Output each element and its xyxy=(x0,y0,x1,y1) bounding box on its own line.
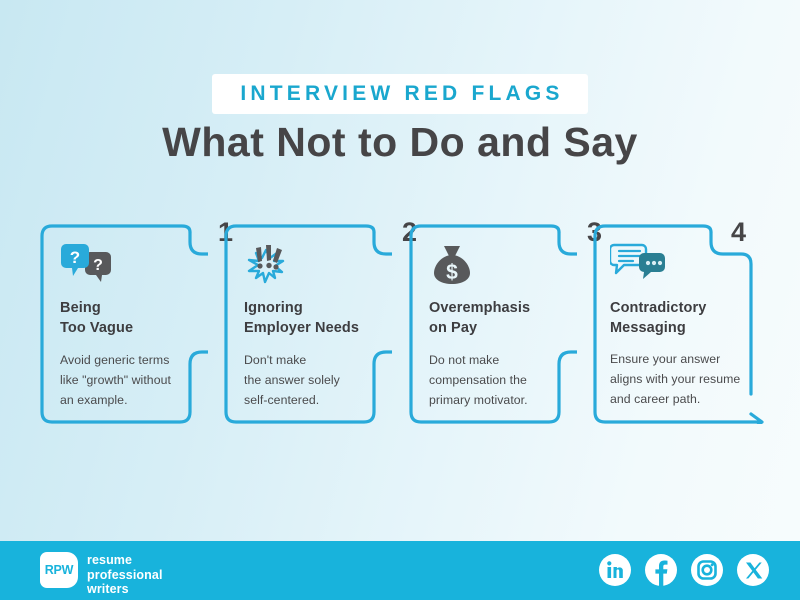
eyebrow-label: INTERVIEW RED FLAGS xyxy=(212,74,587,114)
social-links xyxy=(598,553,770,587)
step-card-1[interactable]: 1 ? ? Being Too Vague Avoid generic term… xyxy=(40,224,208,424)
chat-bubbles-icon xyxy=(610,242,759,290)
step-desc-1: Avoid generic terms like "growth" withou… xyxy=(60,351,194,411)
instagram-icon[interactable] xyxy=(690,553,724,587)
logo-wordmark: resume professional writers xyxy=(87,552,163,597)
step-title-4-line2: Messaging xyxy=(610,318,759,338)
step-title-1-line1: Being xyxy=(60,298,194,318)
step-title-4-line1: Contradictory xyxy=(610,298,759,318)
svg-text:?: ? xyxy=(70,248,80,267)
linkedin-icon[interactable] xyxy=(598,553,632,587)
step-card-2[interactable]: 2 Ignoring Employer Needs Don't make t xyxy=(224,224,392,424)
step-title-2-line1: Ignoring xyxy=(244,298,378,318)
logo-mark: RPW xyxy=(40,552,78,588)
step-desc-3: Do not make compensation the primary mot… xyxy=(429,351,563,411)
facebook-icon[interactable] xyxy=(644,553,678,587)
brand-logo[interactable]: RPW resume professional writers xyxy=(40,552,163,597)
footer-bar: RPW resume professional writers xyxy=(0,541,800,600)
svg-text:?: ? xyxy=(93,257,103,274)
step-title-2-line2: Employer Needs xyxy=(244,318,378,338)
x-twitter-icon[interactable] xyxy=(736,553,770,587)
step-title-1: Being Too Vague xyxy=(60,298,194,338)
step-title-1-line2: Too Vague xyxy=(60,318,194,338)
step-desc-2: Don't make the answer solely self-center… xyxy=(244,351,378,411)
step-card-3[interactable]: 3 $ Overemphasis on Pay Do not make comp… xyxy=(409,224,577,424)
step-desc-4: Ensure your answer aligns with your resu… xyxy=(610,350,759,410)
question-bubbles-icon: ? ? xyxy=(60,242,194,290)
money-bag-icon: $ xyxy=(429,242,563,290)
exclamation-burst-icon xyxy=(244,242,378,290)
step-card-4[interactable]: 4 Contradictory Messag xyxy=(593,224,773,424)
eyebrow-banner: INTERVIEW RED FLAGS xyxy=(0,74,800,114)
step-title-3-line1: Overemphasis xyxy=(429,298,563,318)
page-title: What Not to Do and Say xyxy=(0,119,800,166)
step-title-3: Overemphasis on Pay xyxy=(429,298,563,338)
step-title-4: Contradictory Messaging xyxy=(610,298,759,338)
steps-container: 1 ? ? Being Too Vague Avoid generic term… xyxy=(0,224,800,434)
step-title-3-line2: on Pay xyxy=(429,318,563,338)
step-title-2: Ignoring Employer Needs xyxy=(244,298,378,338)
svg-text:$: $ xyxy=(446,261,458,284)
